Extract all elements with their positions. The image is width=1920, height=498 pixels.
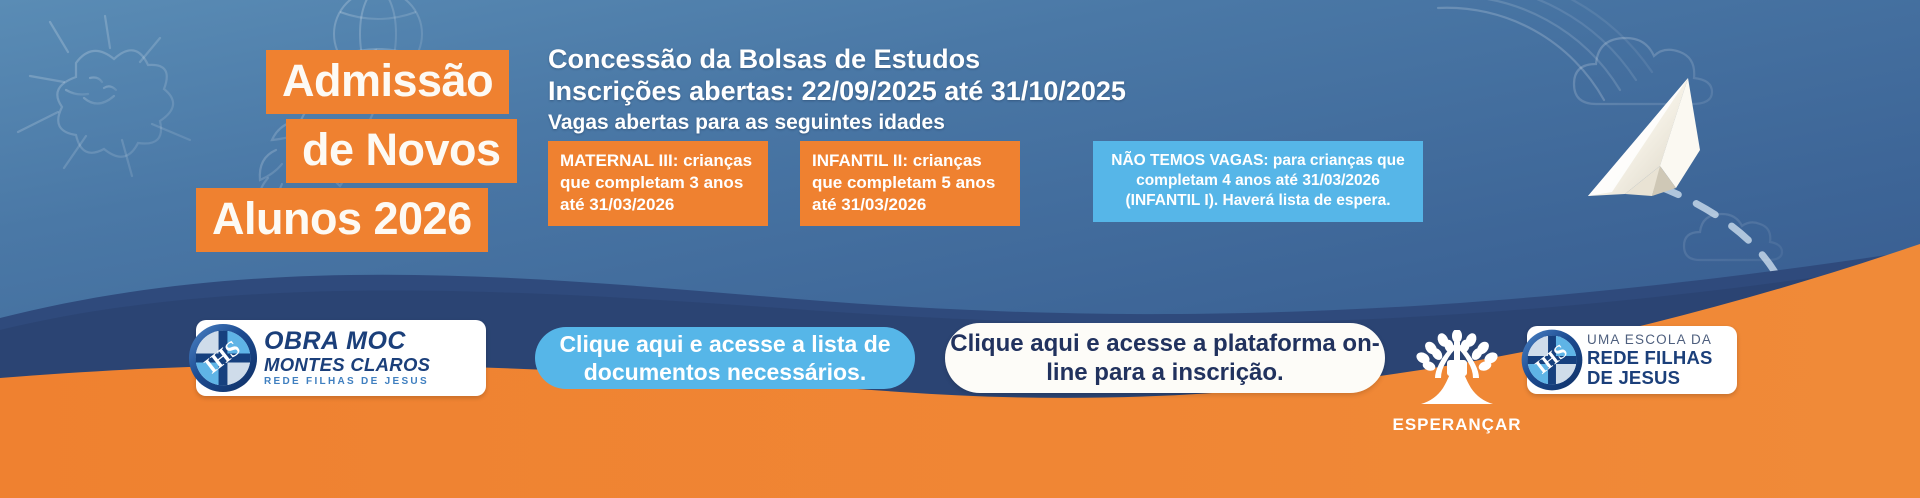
info-line-ages: Vagas abertas para as seguintes idades xyxy=(548,108,1888,138)
ihs-emblem-icon-2: IHS xyxy=(1519,327,1585,393)
logo-rede-line-3: DE JESUS xyxy=(1587,368,1713,388)
bottom-strip: IHS OBRA MOC MONTES CLAROS REDE FILHAS D… xyxy=(0,300,1920,498)
info-block: Concessão da Bolsas de Estudos Inscriçõe… xyxy=(548,44,1888,138)
age-boxes: MATERNAL III: crianças que completam 3 a… xyxy=(548,141,1423,226)
age-box-maternal-3: MATERNAL III: crianças que completam 3 a… xyxy=(548,141,768,226)
headline-line-1: Admissão xyxy=(266,50,509,114)
logo-obra-moc-subtitle: MONTES CLAROS xyxy=(264,354,430,375)
age-box-infantil-2: INFANTIL II: crianças que completam 5 an… xyxy=(800,141,1020,226)
logo-obra-moc: IHS OBRA MOC MONTES CLAROS REDE FILHAS D… xyxy=(196,320,486,396)
logo-esperancar: ESPERANÇAR xyxy=(1392,330,1522,435)
ihs-emblem-icon: IHS xyxy=(186,321,260,395)
logo-obra-moc-tagline: REDE FILHAS DE JESUS xyxy=(264,375,430,389)
cta-plataforma-inscricao-label: Clique aqui e acesse a plataforma on-lin… xyxy=(945,329,1385,387)
logo-rede-filhas-de-jesus: IHS UMA ESCOLA DA REDE FILHAS DE JESUS xyxy=(1527,326,1737,394)
logo-esperancar-label: ESPERANÇAR xyxy=(1392,415,1522,435)
logo-rede-line-2: REDE FILHAS xyxy=(1587,348,1713,368)
headline-row-3: Alunos 2026 xyxy=(196,188,517,252)
headline-line-2: de Novos xyxy=(286,119,517,183)
logo-rede-text: UMA ESCOLA DA REDE FILHAS DE JESUS xyxy=(1587,332,1713,388)
logo-obra-moc-text: OBRA MOC MONTES CLAROS REDE FILHAS DE JE… xyxy=(264,328,430,389)
age-box-sem-vagas: NÃO TEMOS VAGAS: para crianças que compl… xyxy=(1093,141,1423,222)
headline-row-1: Admissão xyxy=(196,50,517,114)
info-line-dates: Inscrições abertas: 22/09/2025 até 31/10… xyxy=(548,75,1888,107)
headline-line-3: Alunos 2026 xyxy=(196,188,488,252)
cta-plataforma-inscricao[interactable]: Clique aqui e acesse a plataforma on-lin… xyxy=(945,323,1385,393)
cta-lista-documentos-label: Clique aqui e acesse a lista de document… xyxy=(535,330,915,386)
logo-rede-line-1: UMA ESCOLA DA xyxy=(1587,332,1713,348)
tree-icon xyxy=(1397,330,1517,408)
cta-lista-documentos[interactable]: Clique aqui e acesse a lista de document… xyxy=(535,327,915,389)
logo-obra-moc-title: OBRA MOC xyxy=(264,328,430,354)
info-line-scholarship: Concessão da Bolsas de Estudos xyxy=(548,44,1888,75)
admission-banner: Admissão de Novos Alunos 2026 Concessão … xyxy=(0,0,1920,498)
headline: Admissão de Novos Alunos 2026 xyxy=(196,50,517,257)
headline-row-2: de Novos xyxy=(196,119,517,183)
